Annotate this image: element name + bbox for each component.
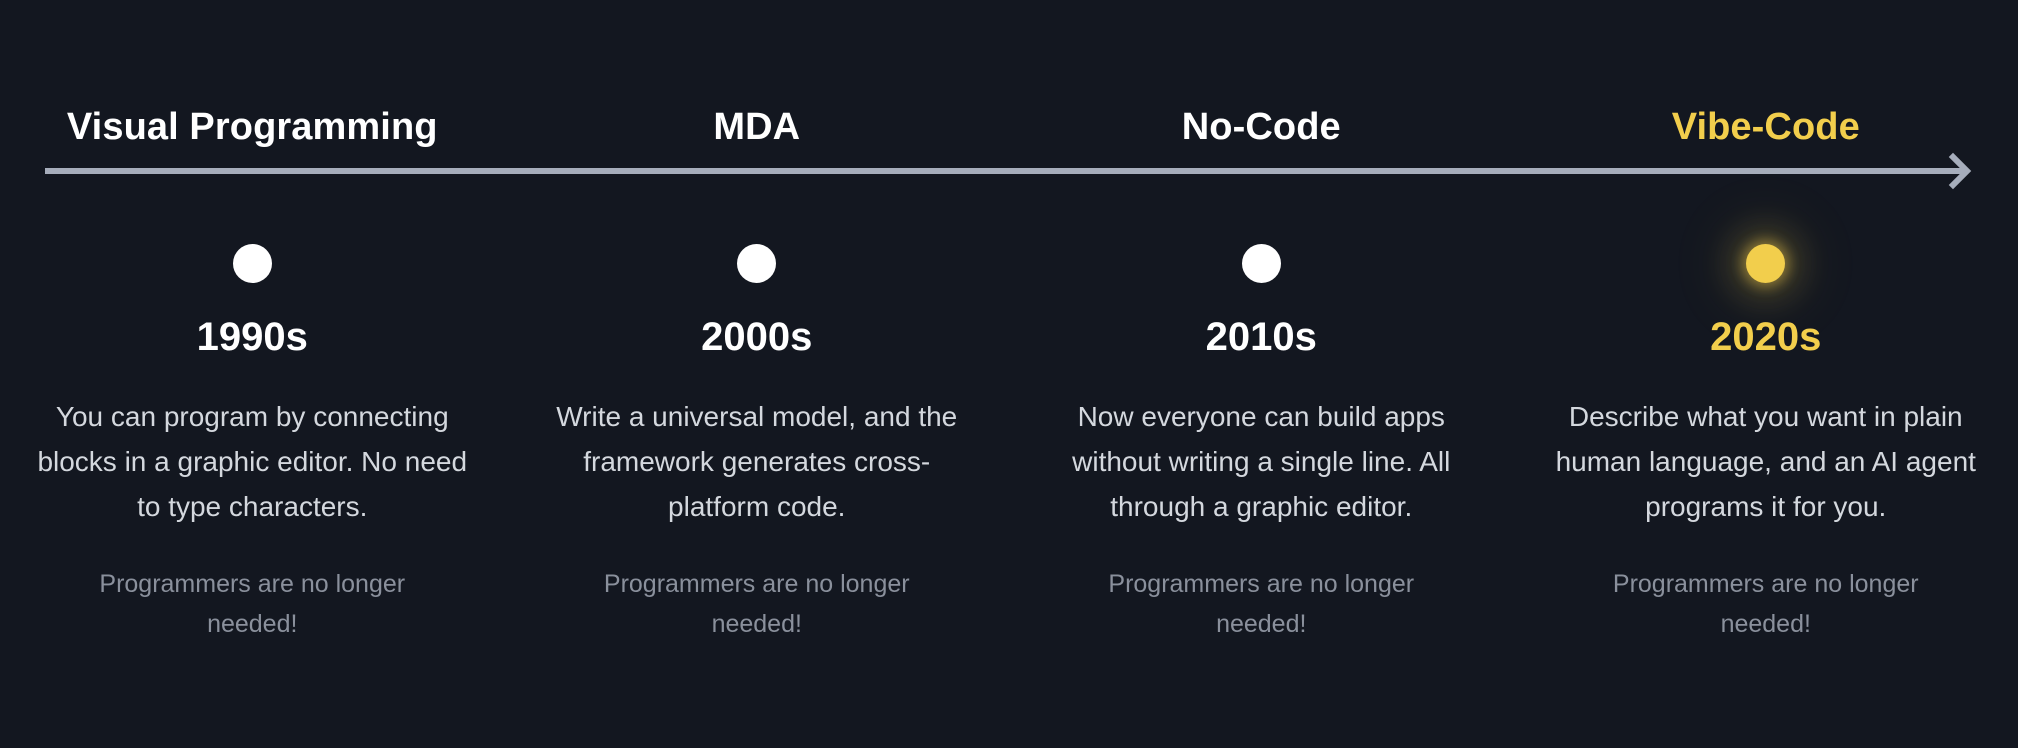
timeline-columns: 1990s You can program by connecting bloc… (0, 200, 2018, 748)
column-note-2010s: Programmers are no longer needed! (1061, 564, 1461, 644)
column-description-2010s: Now everyone can build apps without writ… (1046, 394, 1476, 529)
decade-label-2020s: 2020s (1710, 317, 1821, 357)
timeline-dot-icon (1242, 244, 1281, 283)
chevron-right-arrow-icon (1937, 147, 1985, 195)
column-note-1990s: Programmers are no longer needed! (52, 564, 452, 644)
timeline-column-2020s: 2020s Describe what you want in plain hu… (1514, 200, 2018, 748)
timeline-axis-block: Visual Programming MDA No-Code Vibe-Code (0, 0, 2018, 200)
decade-label-2000s: 2000s (701, 317, 812, 357)
column-description-2000s: Write a universal model, and the framewo… (542, 394, 972, 529)
decade-label-2010s: 2010s (1206, 317, 1317, 357)
timeline-axis-line-wrap (45, 168, 1975, 174)
timeline-column-2010s: 2010s Now everyone can build apps withou… (1009, 200, 1514, 748)
column-description-2020s: Describe what you want in plain human la… (1551, 394, 1981, 529)
era-label-row: Visual Programming MDA No-Code Vibe-Code (0, 108, 2018, 146)
era-label-mda: MDA (505, 108, 1010, 146)
timeline-dot-icon (737, 244, 776, 283)
timeline-column-2000s: 2000s Write a universal model, and the f… (505, 200, 1010, 748)
timeline-axis-line (45, 168, 1963, 174)
era-label-vibe-code: Vibe-Code (1514, 108, 2018, 146)
era-label-visual-programming: Visual Programming (0, 108, 505, 146)
timeline-dot-highlighted-icon (1746, 244, 1785, 283)
decade-label-1990s: 1990s (197, 317, 308, 357)
era-label-no-code: No-Code (1009, 108, 1514, 146)
column-note-2000s: Programmers are no longer needed! (557, 564, 957, 644)
timeline-dot-icon (233, 244, 272, 283)
column-note-2020s: Programmers are no longer needed! (1566, 564, 1966, 644)
column-description-1990s: You can program by connecting blocks in … (37, 394, 467, 529)
timeline-infographic: Visual Programming MDA No-Code Vibe-Code… (0, 0, 2018, 748)
timeline-column-1990s: 1990s You can program by connecting bloc… (0, 200, 505, 748)
